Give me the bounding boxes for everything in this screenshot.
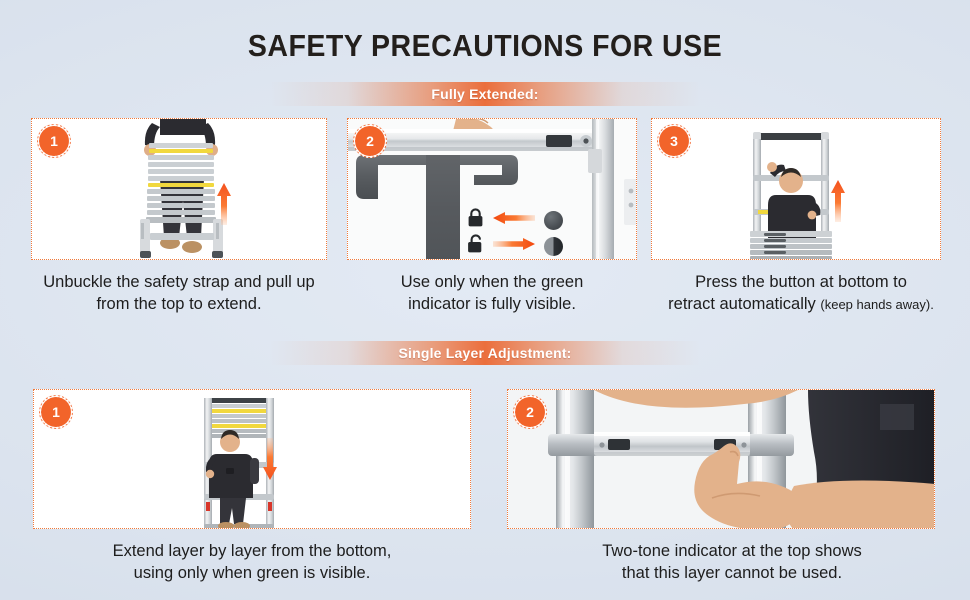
arrow-down-icon: [262, 438, 278, 485]
caption-line-1: Press the button at bottom to: [636, 272, 966, 294]
step-caption-1-2: Use only when the green indicator is ful…: [342, 272, 642, 316]
arrow-left-icon: [493, 211, 535, 229]
indicator-dot-dark: [544, 211, 563, 230]
step-badge-1: 1: [41, 128, 67, 154]
indicator-row-unlocked: [467, 234, 563, 258]
step-caption-1-3: Press the button at bottom to retract au…: [636, 272, 966, 316]
caption-line-1: Two-tone indicator at the top shows: [532, 541, 932, 563]
section-banner-fully-extended: Fully Extended:: [270, 82, 700, 106]
lock-closed-icon: [467, 208, 484, 232]
caption-line-2: retract automatically (keep hands away).: [636, 294, 966, 316]
caption-note: (keep hands away).: [820, 297, 933, 312]
step-panel-1-3: 3: [651, 118, 941, 260]
caption-line-2: using only when green is visible.: [52, 563, 452, 585]
step-panel-1-2: 2: [347, 118, 637, 260]
step-panel-1-1: 1: [31, 118, 327, 260]
step-panel-2-2: 2: [507, 389, 935, 529]
step-caption-2-1: Extend layer by layer from the bottom, u…: [52, 541, 452, 585]
caption-line-2: from the top to extend.: [14, 294, 344, 316]
step-caption-1-1: Unbuckle the safety strap and pull up fr…: [14, 272, 344, 316]
caption-line-2: indicator is fully visible.: [342, 294, 642, 316]
step-caption-2-2: Two-tone indicator at the top shows that…: [532, 541, 932, 585]
arrow-up-icon: [216, 183, 232, 230]
step-badge-3: 3: [661, 128, 687, 154]
section-banner-label: Single Layer Adjustment:: [398, 345, 571, 361]
step-panel-2-1: 1: [33, 389, 471, 529]
step-badge-2: 2: [357, 128, 383, 154]
illustration-ladder-unbuckle: [32, 119, 327, 260]
step-badge-2: 2: [517, 399, 543, 425]
page-title: SAFETY PRECAUTIONS FOR USE: [39, 28, 931, 64]
caption-line-1: Unbuckle the safety strap and pull up: [14, 272, 344, 294]
caption-line-1: Use only when the green: [342, 272, 642, 294]
illustration-ladder-extended: [652, 119, 941, 260]
indicator-dot-two-tone: [544, 237, 563, 256]
arrow-up-icon: [830, 180, 846, 227]
arrow-right-icon: [493, 237, 535, 255]
illustration-thumb-press-button: [508, 390, 935, 529]
step-badge-1: 1: [43, 399, 69, 425]
caption-line-1: Extend layer by layer from the bottom,: [52, 541, 452, 563]
section-banner-single-layer-adjustment: Single Layer Adjustment:: [270, 341, 700, 365]
illustration-layer-by-layer: [34, 390, 471, 529]
caption-line-2: that this layer cannot be used.: [532, 563, 932, 585]
poster-root: SAFETY PRECAUTIONS FOR USE Fully Extende…: [0, 0, 970, 600]
section-banner-label: Fully Extended:: [431, 86, 538, 102]
lock-open-icon: [467, 234, 484, 258]
indicator-row-locked: [467, 208, 563, 232]
caption-line-2-main: retract automatically: [668, 295, 816, 313]
